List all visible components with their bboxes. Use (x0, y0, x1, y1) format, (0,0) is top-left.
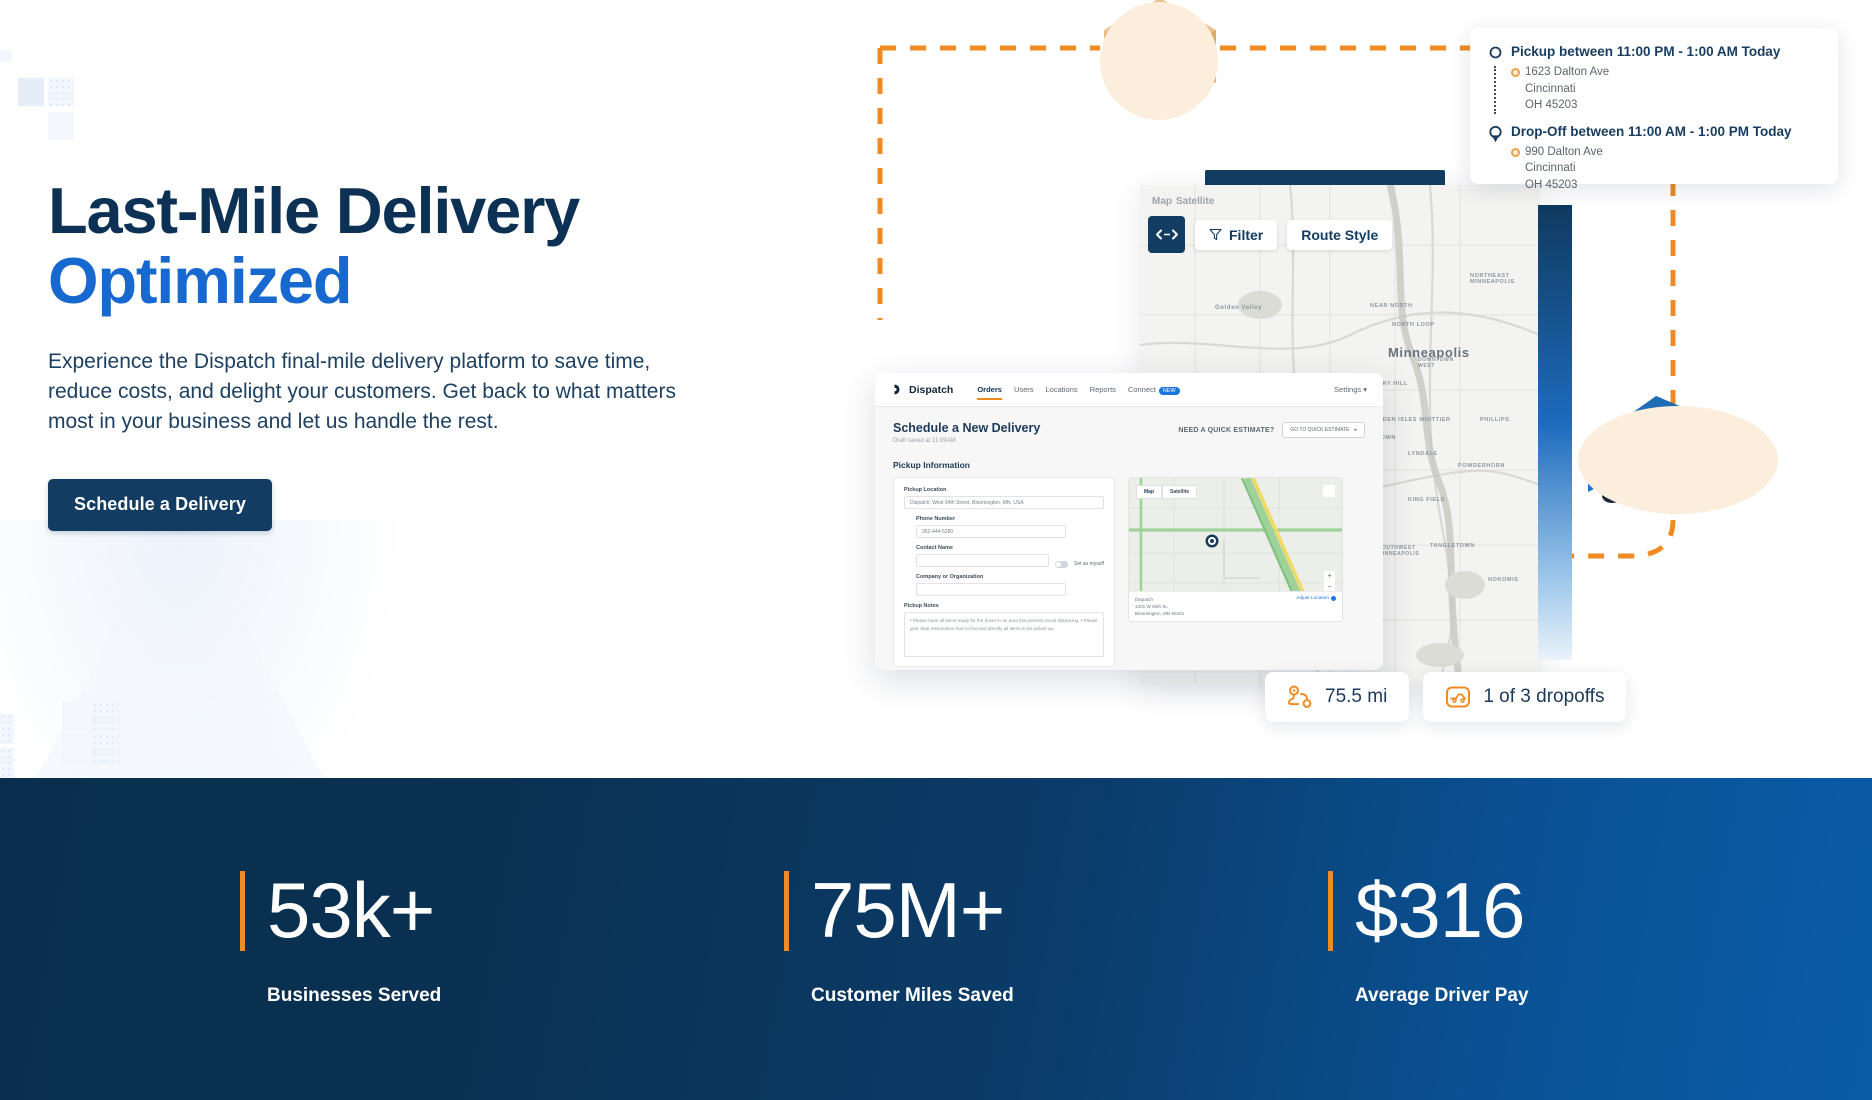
pickup-marker-column (1488, 44, 1502, 114)
map-place-tangletown: TANGLETOWN (1430, 543, 1475, 549)
dropoff-city: Cincinnati (1525, 160, 1792, 177)
dashboard-nav-locations[interactable]: Locations (1046, 385, 1078, 394)
pickup-map-address-line1: 1401 W 94th St. (1135, 603, 1184, 610)
map-seg-map[interactable]: Map (1152, 196, 1172, 207)
pickup-map-basemap-toggle[interactable]: Map Satellite (1136, 485, 1197, 499)
map-place-southwest: SOUTHWEST MINNEAPOLIS (1378, 545, 1418, 557)
adjust-location-link[interactable]: Adjust Location (1296, 596, 1336, 617)
map-seg-satellite[interactable]: Satellite (1176, 196, 1214, 207)
map-place-phillips: PHILLIPS (1480, 417, 1510, 423)
hero-copy: Last-Mile Delivery Optimized Experience … (48, 176, 848, 531)
pickup-location-map[interactable]: Map Satellite + − Dispatch 1401 W 94th S… (1128, 477, 1343, 622)
route-icon (1287, 685, 1313, 709)
pickup-map-address-line2: Bloomington, MN 55431 (1135, 610, 1184, 617)
dashboard-settings-label: Settings (1334, 385, 1361, 394)
route-connector-dots (1494, 66, 1496, 114)
map-place-kingfield: KING FIELD (1408, 497, 1445, 503)
dropoff-stop: Drop-Off between 11:00 AM - 1:00 PM Toda… (1488, 124, 1820, 194)
dropoff-marker-column (1488, 124, 1502, 194)
distance-value: 75.5 mi (1325, 686, 1387, 708)
headline-line-2: Optimized (48, 246, 848, 316)
dashboard-nav-connect-badge: NEW (1159, 387, 1180, 395)
stat-customer-miles-saved: 75M+ Customer Miles Saved (784, 871, 1328, 1007)
quick-estimate-button[interactable]: GO TO QUICK ESTIMATE ▸ (1282, 422, 1365, 438)
pickup-map-footer: Dispatch 1401 W 94th St. Bloomington, MN… (1129, 591, 1342, 621)
pickup-map-zoom-controls[interactable]: + − (1324, 571, 1335, 593)
hero-subcopy: Experience the Dispatch final-mile deliv… (48, 347, 693, 436)
stat-value: 75M+ (811, 871, 1004, 951)
dashboard-nav-links: Orders Users Locations Reports ConnectNE… (977, 385, 1179, 394)
landing-page: Last-Mile Delivery Optimized Experience … (0, 0, 1872, 1100)
stat-value-row: 53k+ (240, 871, 784, 951)
dashboard-body: Schedule a New Delivery Draft saved at 1… (875, 407, 1383, 670)
dashboard-columns: Pickup Location Dispatch, West 94th Stre… (893, 477, 1365, 667)
dropoff-title: Drop-Off between 11:00 AM - 1:00 PM Toda… (1511, 124, 1792, 141)
dropoff-details: Drop-Off between 11:00 AM - 1:00 PM Toda… (1511, 124, 1792, 194)
stat-accent-bar (784, 871, 789, 951)
set-as-myself-toggle[interactable] (1055, 561, 1068, 568)
pickup-details: Pickup between 11:00 PM - 1:00 AM Today … (1511, 44, 1780, 114)
distance-pill: 75.5 mi (1265, 672, 1409, 722)
pickup-circle-icon (1489, 46, 1502, 61)
dropoff-address-dot-icon (1511, 148, 1520, 157)
stat-value-row: 75M+ (784, 871, 1328, 951)
phone-number-input[interactable]: 952-444-5280 (916, 525, 1066, 538)
dropoffs-value: 1 of 3 dropoffs (1483, 686, 1604, 708)
pickup-map-seg-satellite[interactable]: Satellite (1162, 485, 1197, 499)
company-input[interactable] (916, 583, 1066, 596)
dispatch-logo-icon (891, 383, 904, 396)
dispatch-logo[interactable]: Dispatch (891, 383, 953, 396)
map-place-powderhorn: POWDERHORN (1458, 463, 1505, 469)
pickup-state-zip: OH 45203 (1525, 97, 1780, 114)
dropoff-address-row: 990 Dalton Ave (1511, 144, 1792, 161)
delivery-truck-illustration (1578, 378, 1788, 528)
map-gradient-bar (1538, 205, 1572, 660)
chevron-right-icon: ▸ (1354, 427, 1357, 433)
funnel-icon (1209, 228, 1222, 241)
map-place-downtown-west: DOWNTOWN WEST (1418, 357, 1458, 369)
hero-glow-decoration (0, 520, 400, 778)
delivery-van-icon (1445, 685, 1471, 709)
headline-line-1: Last-Mile Delivery (48, 174, 579, 247)
route-stat-pills: 75.5 mi 1 of 3 dropoffs (1265, 672, 1626, 722)
decorative-squares-top-left (0, 50, 140, 190)
dropoff-state-zip: OH 45203 (1525, 177, 1792, 194)
map-place-northeast: NORTHEAST MINNEAPOLIS (1470, 273, 1516, 285)
pickup-address-dot-icon (1511, 68, 1520, 77)
dashboard-nav-orders[interactable]: Orders (977, 385, 1002, 394)
map-basemap-toggle[interactable]: Map Satellite (1152, 196, 1214, 207)
pickup-address-row: 1623 Dalton Ave (1511, 64, 1780, 81)
stat-value: $316 (1355, 871, 1525, 951)
map-current-location-marker (1205, 534, 1219, 548)
pickup-map-fullscreen-button[interactable] (1323, 485, 1335, 497)
dashboard-navbar: Dispatch Orders Users Locations Reports … (875, 373, 1383, 407)
dispatch-logo-text: Dispatch (909, 384, 953, 396)
dropoff-pin-icon (1489, 126, 1502, 143)
pickup-address-line1: 1623 Dalton Ave (1525, 64, 1609, 81)
schedule-delivery-button[interactable]: Schedule a Delivery (48, 479, 272, 531)
contact-name-label: Contact Name (916, 545, 1104, 551)
filter-label: Filter (1229, 227, 1263, 243)
pickup-stop: Pickup between 11:00 PM - 1:00 AM Today … (1488, 44, 1820, 114)
contact-name-input[interactable] (916, 554, 1049, 567)
map-place-north-loop: NORTH LOOP (1392, 322, 1435, 328)
pickup-map-address: Dispatch 1401 W 94th St. Bloomington, MN… (1135, 596, 1184, 617)
dashboard-nav-users[interactable]: Users (1014, 385, 1034, 394)
map-place-near-north: NEAR NORTH (1370, 303, 1413, 309)
stat-accent-bar (1328, 871, 1333, 951)
quick-estimate-prompt: NEED A QUICK ESTIMATE? (1178, 427, 1274, 434)
dispatch-dashboard-screenshot[interactable]: Dispatch Orders Users Locations Reports … (875, 373, 1383, 670)
adjust-location-label: Adjust Location (1296, 596, 1329, 601)
dashboard-nav-reports[interactable]: Reports (1090, 385, 1116, 394)
pickup-title: Pickup between 11:00 PM - 1:00 AM Today (1511, 44, 1780, 61)
stat-value: 53k+ (267, 871, 434, 951)
map-toolbar: Filter Route Style (1148, 216, 1392, 253)
map-pin-icon (1331, 596, 1336, 603)
pickup-map-zoom-in[interactable]: + (1324, 571, 1335, 582)
dropoffs-pill: 1 of 3 dropoffs (1423, 672, 1626, 722)
stat-average-driver-pay: $316 Average Driver Pay (1328, 871, 1872, 1007)
hero-beam-decoration (30, 560, 330, 778)
page-title: Last-Mile Delivery Optimized (48, 176, 848, 315)
quick-estimate-button-label: GO TO QUICK ESTIMATE (1290, 427, 1349, 433)
dashboard-settings-menu[interactable]: Settings ▾ (1334, 385, 1367, 394)
pan-arrows-button[interactable] (1148, 216, 1185, 253)
left-right-arrow-icon (1156, 229, 1178, 240)
set-as-myself-label: Set as myself (1074, 561, 1104, 567)
pickup-map-seg-map[interactable]: Map (1136, 485, 1162, 499)
company-label: Company or Organization (916, 574, 1104, 580)
package-box-illustration (1092, 0, 1232, 102)
map-place-golden-valley: Golden Valley (1215, 305, 1262, 311)
dropoff-address-line1: 990 Dalton Ave (1525, 144, 1603, 161)
dashboard-draft-note: Draft saved at 11:09AM (893, 438, 1365, 444)
stat-value-row: $316 (1328, 871, 1872, 951)
stat-label: Customer Miles Saved (811, 985, 1328, 1007)
pickup-map-place-name: Dispatch (1135, 596, 1184, 603)
filter-button[interactable]: Filter (1195, 220, 1277, 250)
dashboard-nav-connect-label: Connect (1128, 385, 1156, 394)
pickup-location-label: Pickup Location (904, 487, 1104, 493)
map-place-nokomis: NOKOMIS (1488, 577, 1518, 583)
pickup-notes-label: Pickup Notes (904, 603, 1104, 609)
pickup-city: Cincinnati (1525, 81, 1780, 98)
stat-businesses-served: 53k+ Businesses Served (240, 871, 784, 1007)
pickup-location-input[interactable]: Dispatch, West 94th Street, Bloomington,… (904, 496, 1104, 509)
route-style-label: Route Style (1301, 227, 1378, 243)
stat-accent-bar (240, 871, 245, 951)
dashboard-nav-connect[interactable]: ConnectNEW (1128, 385, 1180, 394)
decorative-squares-bottom-left (0, 690, 140, 778)
route-style-button[interactable]: Route Style (1287, 220, 1392, 250)
quick-estimate-block: NEED A QUICK ESTIMATE? GO TO QUICK ESTIM… (1178, 422, 1365, 438)
pickup-information-heading: Pickup Information (893, 460, 1365, 470)
pickup-notes-textarea[interactable]: • Please have all items ready for the dr… (904, 612, 1104, 657)
phone-number-label: Phone Number (916, 516, 1104, 522)
stat-label: Businesses Served (267, 985, 784, 1007)
stops-info-card: Pickup between 11:00 PM - 1:00 AM Today … (1470, 28, 1838, 184)
stat-label: Average Driver Pay (1355, 985, 1872, 1007)
map-place-lyndale: LYNDALE (1408, 451, 1438, 457)
stats-band: 53k+ Businesses Served 75M+ Customer Mil… (0, 778, 1872, 1100)
pickup-form: Pickup Location Dispatch, West 94th Stre… (893, 477, 1115, 667)
hero-section: Last-Mile Delivery Optimized Experience … (0, 0, 1872, 778)
